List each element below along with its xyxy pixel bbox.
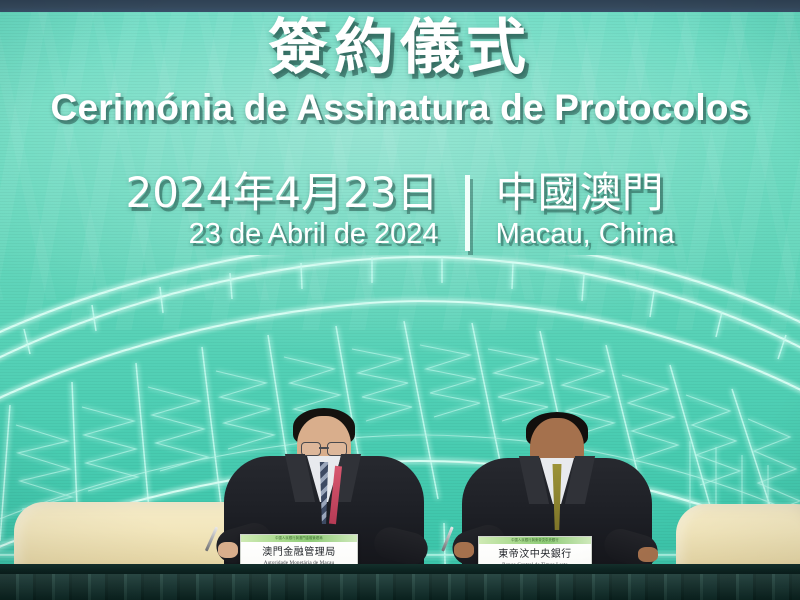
nameplate-band-text: 中國人民銀行與東帝汶中央銀行 [479,537,591,544]
hand-right [638,547,658,562]
ceremony-photo: 簽約儀式 Cerimónia de Assinatura de Protocol… [0,0,800,600]
nameplate-band: 中國人民銀行與東帝汶中央銀行 [479,537,591,544]
hand-left [454,542,474,558]
hand-left [218,542,238,558]
table-surface [0,564,800,574]
glasses-icon [301,442,347,454]
nameplate-band: 中國人民銀行與澳門金融管理局 [241,535,357,542]
nameplate-band-text: 中國人民銀行與澳門金融管理局 [241,535,357,542]
nameplate-chinese: 澳門金融管理局 [241,547,357,559]
table-skirt [0,574,800,600]
nameplate-chinese: 東帝汶中央銀行 [479,549,591,561]
stage-foreground: 中國人民銀行與澳門金融管理局 澳門金融管理局 Autoridade Monetá… [0,0,800,600]
